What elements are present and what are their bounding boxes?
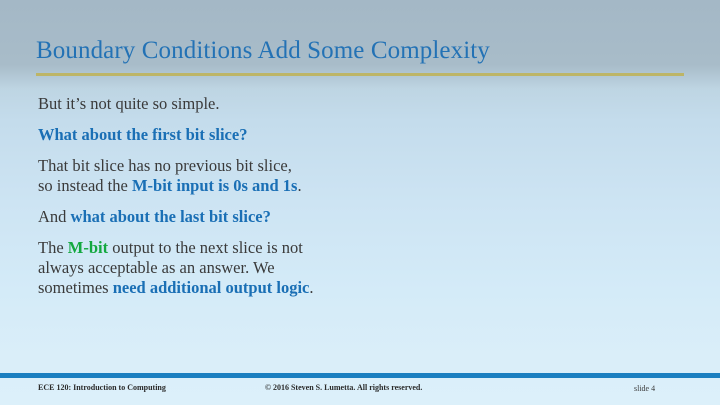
paragraph-2-line-1: What about the first bit slice? (38, 125, 678, 145)
paragraph-5-highlight-green: M-bit (68, 238, 108, 257)
footer-slide-number: slide 4 (634, 384, 655, 393)
paragraph-5-line-3: sometimes need additional output logic. (38, 278, 678, 298)
paragraph-4-highlight: what about the last bit slice? (71, 207, 271, 226)
paragraph-3-line-2: so instead the M-bit input is 0s and 1s. (38, 176, 678, 196)
slide-body: But it’s not quite so simple. What about… (38, 94, 678, 309)
paragraph-3-highlight: M-bit input is 0s and 1s (132, 176, 298, 195)
paragraph-5-line-1-text-a: The (38, 238, 68, 257)
title-divider-rule (36, 73, 684, 76)
paragraph-5-line-3-text-a: sometimes (38, 278, 113, 297)
paragraph-2: What about the first bit slice? (38, 125, 678, 145)
paragraph-3-line-2-text-c: . (297, 176, 301, 195)
slide-canvas: Boundary Conditions Add Some Complexity … (0, 0, 720, 405)
paragraph-3-line-1: That bit slice has no previous bit slice… (38, 156, 678, 176)
paragraph-3: That bit slice has no previous bit slice… (38, 156, 678, 196)
paragraph-5-line-2: always acceptable as an answer. We (38, 258, 678, 278)
paragraph-5-line-3-text-c: . (309, 278, 313, 297)
slide-footer: ECE 120: Introduction to Computing © 201… (0, 383, 720, 405)
paragraph-5-line-1-text-c: output to the next slice is not (108, 238, 303, 257)
paragraph-1-line-1: But it’s not quite so simple. (38, 94, 678, 114)
footer-course-label: ECE 120: Introduction to Computing (38, 383, 166, 392)
paragraph-3-line-2-text-a: so instead the (38, 176, 132, 195)
paragraph-4: And what about the last bit slice? (38, 207, 678, 227)
paragraph-1: But it’s not quite so simple. (38, 94, 678, 114)
paragraph-5-line-1: The M-bit output to the next slice is no… (38, 238, 678, 258)
paragraph-4-line-1-text-a: And (38, 207, 71, 226)
slide-title: Boundary Conditions Add Some Complexity (36, 36, 686, 66)
paragraph-5-highlight-blue: need additional output logic (113, 278, 310, 297)
paragraph-5: The M-bit output to the next slice is no… (38, 238, 678, 298)
footer-copyright-label: © 2016 Steven S. Lumetta. All rights res… (265, 383, 422, 392)
footer-divider-bar (0, 373, 720, 378)
paragraph-4-line-1: And what about the last bit slice? (38, 207, 678, 227)
